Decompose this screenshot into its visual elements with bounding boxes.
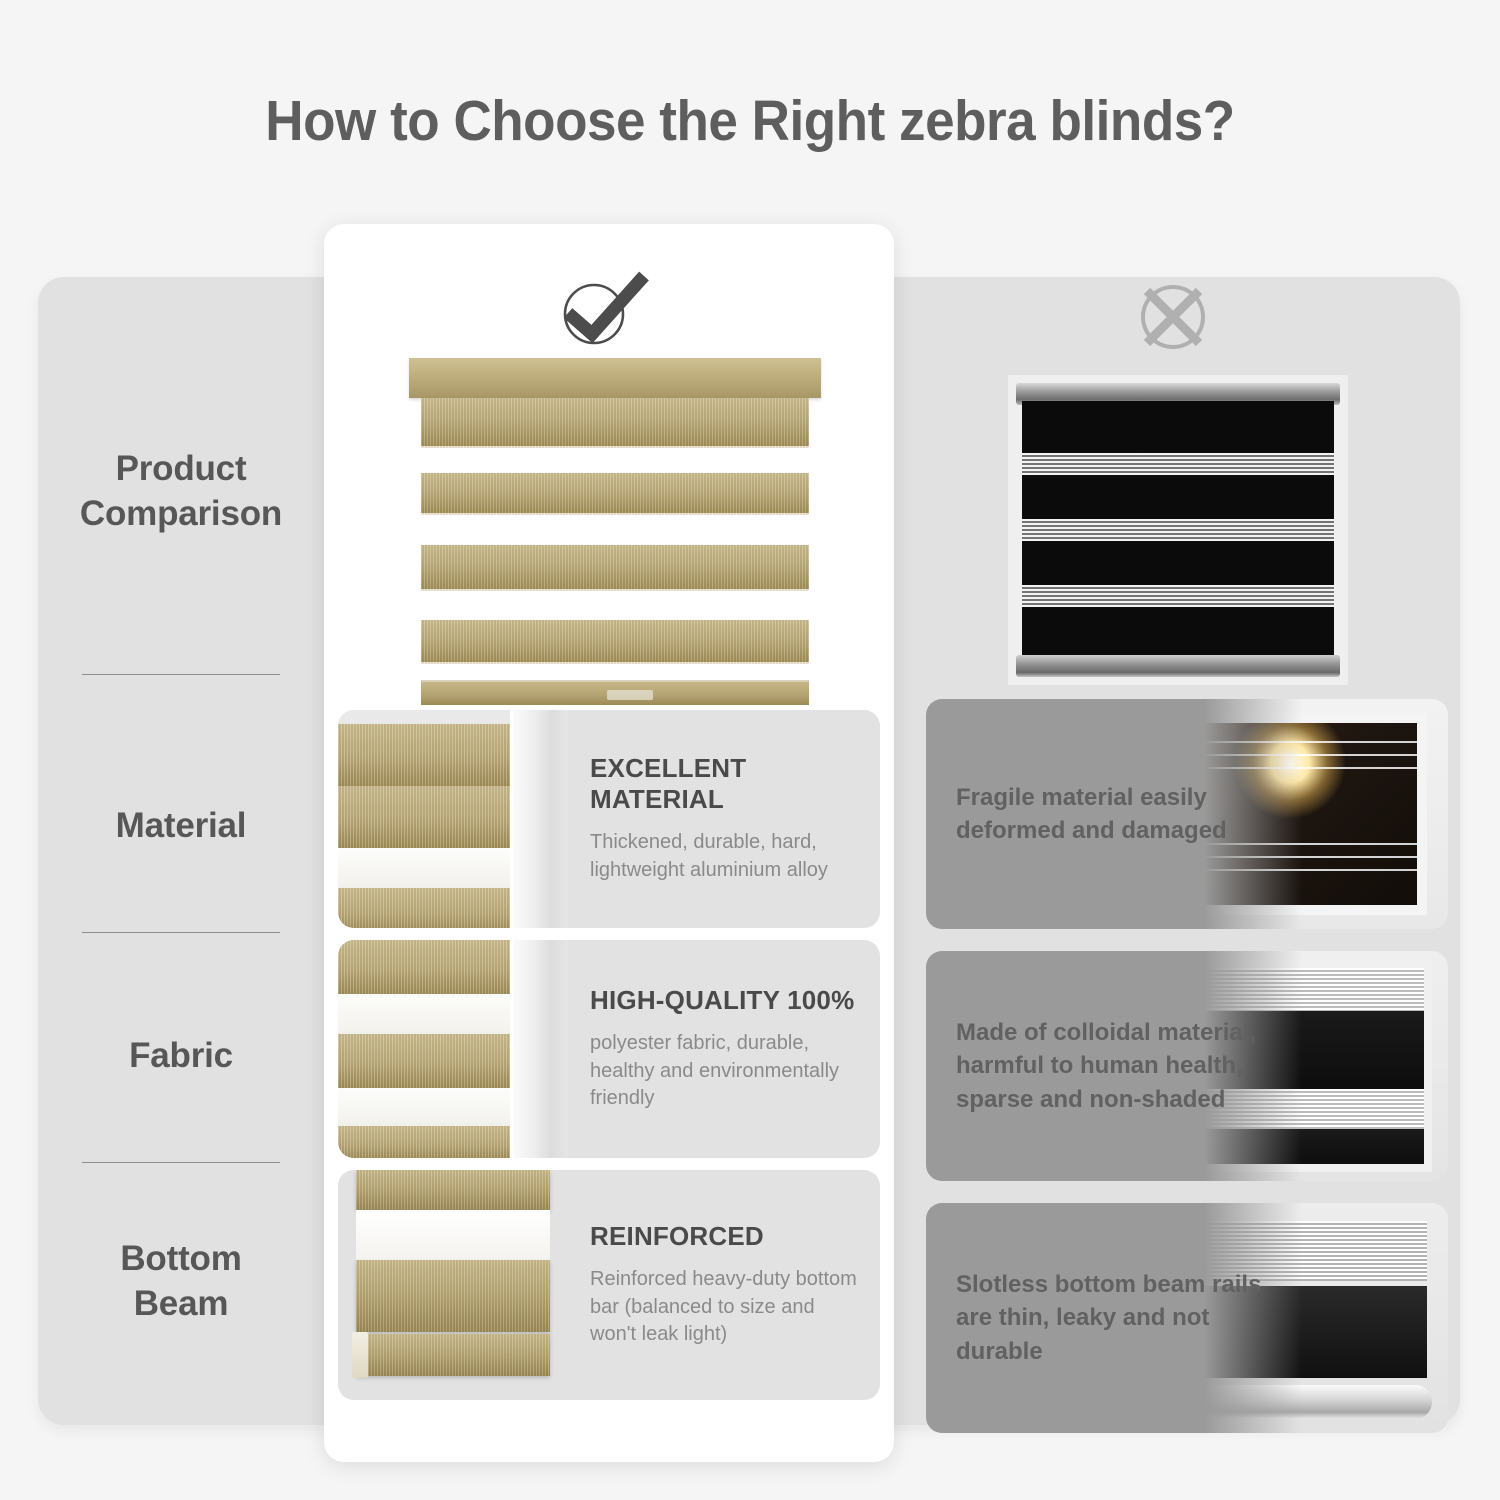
bad-feature-card-bottom-beam: Slotless bottom beam rails are thin, lea… — [926, 1203, 1448, 1433]
row-divider-3 — [82, 1162, 280, 1163]
row-label-line2: Beam — [38, 1282, 324, 1327]
blind-sheer-stripe — [1022, 585, 1334, 607]
blind-slat — [421, 620, 809, 664]
reinforced-bottom-bar-closeup — [338, 1170, 568, 1400]
feature-heading: EXCELLENT MATERIAL — [590, 753, 864, 815]
feature-body: Reinforced heavy-duty bottom bar (balanc… — [590, 1266, 864, 1349]
good-hero-image — [409, 358, 821, 703]
feature-body: Thickened, durable, hard, lightweight al… — [590, 829, 864, 884]
row-label-line1: Material — [38, 804, 324, 849]
blind-headrail — [409, 358, 821, 398]
row-label-line1: Fabric — [38, 1034, 324, 1079]
bad-product-column: Fragile material easily deformed and dam… — [908, 265, 1460, 1425]
window-frame — [510, 940, 568, 1158]
blind-slat — [338, 724, 517, 786]
x-circle-icon — [1133, 277, 1213, 357]
blind-slat — [338, 1126, 517, 1158]
blind-sheer-stripe — [1022, 453, 1334, 475]
bottom-bar-end-cap — [352, 1332, 368, 1378]
blind-bottom-bar — [421, 680, 809, 705]
feature-text-material: EXCELLENT MATERIAL Thickened, durable, h… — [590, 710, 864, 928]
blind-slat — [338, 940, 517, 994]
blind-fabric-body — [1022, 401, 1334, 657]
page-title: How to Choose the Right zebra blinds? — [53, 88, 1448, 154]
row-divider-1 — [82, 674, 280, 675]
beige-fabric-closeup — [338, 940, 568, 1158]
beige-blind-closeup — [338, 710, 568, 928]
feature-thumb-material — [338, 710, 568, 928]
blind-slat — [356, 1260, 549, 1332]
blind-sheer-stripe — [1022, 519, 1334, 541]
blind-slat — [338, 888, 517, 928]
row-label-line1: Bottom — [38, 1237, 324, 1282]
blind-slat — [338, 1034, 517, 1088]
bad-feature-card-fabric: Made of colloidal material, harmful to h… — [926, 951, 1448, 1181]
feature-text-fabric: HIGH-QUALITY 100% polyester fabric, dura… — [590, 940, 864, 1158]
blind-bottom-bar — [356, 1334, 549, 1376]
row-label-material: Material — [38, 804, 324, 849]
row-label-column: Product Comparison Material Fabric Botto… — [38, 277, 324, 1425]
row-divider-2 — [82, 932, 280, 933]
feature-text-bottom-beam: REINFORCED Reinforced heavy-duty bottom … — [590, 1170, 864, 1400]
blind-sheer-gap — [338, 1088, 517, 1126]
bad-feature-label: Fragile material easily deformed and dam… — [956, 781, 1290, 847]
feature-thumb-fabric — [338, 940, 568, 1158]
blind-sheer-gap — [338, 848, 517, 888]
good-product-card: EXCELLENT MATERIAL Thickened, durable, h… — [324, 224, 894, 1462]
feature-card-material: EXCELLENT MATERIAL Thickened, durable, h… — [338, 710, 880, 928]
feature-card-bottom-beam: REINFORCED Reinforced heavy-duty bottom … — [338, 1170, 880, 1400]
row-label-bottom-beam: Bottom Beam — [38, 1237, 324, 1327]
feature-card-fabric: HIGH-QUALITY 100% polyester fabric, dura… — [338, 940, 880, 1158]
bad-feature-text-bottom-beam: Slotless bottom beam rails are thin, lea… — [956, 1203, 1290, 1433]
row-label-line2: Comparison — [38, 492, 324, 537]
feature-heading: HIGH-QUALITY 100% — [590, 985, 864, 1016]
blind-slat — [356, 1170, 549, 1210]
bad-feature-label: Slotless bottom beam rails are thin, lea… — [956, 1268, 1290, 1367]
blind-sheer-gap — [338, 994, 517, 1034]
bad-feature-text-material: Fragile material easily deformed and dam… — [956, 699, 1290, 929]
blind-bottom-rail — [1016, 655, 1340, 677]
feature-thumb-bottom-beam — [338, 1170, 568, 1400]
bad-feature-label: Made of colloidal material, harmful to h… — [956, 1016, 1290, 1115]
bad-feature-card-material: Fragile material easily deformed and dam… — [926, 699, 1448, 929]
blind-handle — [607, 690, 653, 700]
row-label-line1: Product — [38, 447, 324, 492]
check-circle-icon — [552, 268, 656, 348]
feature-heading: REINFORCED — [590, 1221, 864, 1252]
blind-slat — [338, 786, 517, 848]
bad-feature-text-fabric: Made of colloidal material, harmful to h… — [956, 951, 1290, 1181]
feature-body: polyester fabric, durable, healthy and e… — [590, 1030, 864, 1113]
infographic-page: How to Choose the Right zebra blinds? Pr… — [0, 0, 1500, 1500]
blind-slat — [421, 473, 809, 515]
blind-slat — [421, 398, 809, 448]
blind-sheer-gap — [356, 1210, 549, 1260]
row-label-product-comparison: Product Comparison — [38, 447, 324, 537]
row-label-fabric: Fabric — [38, 1034, 324, 1079]
bad-hero-image — [1008, 375, 1348, 685]
blind-slat — [421, 545, 809, 591]
window-frame — [510, 710, 568, 928]
